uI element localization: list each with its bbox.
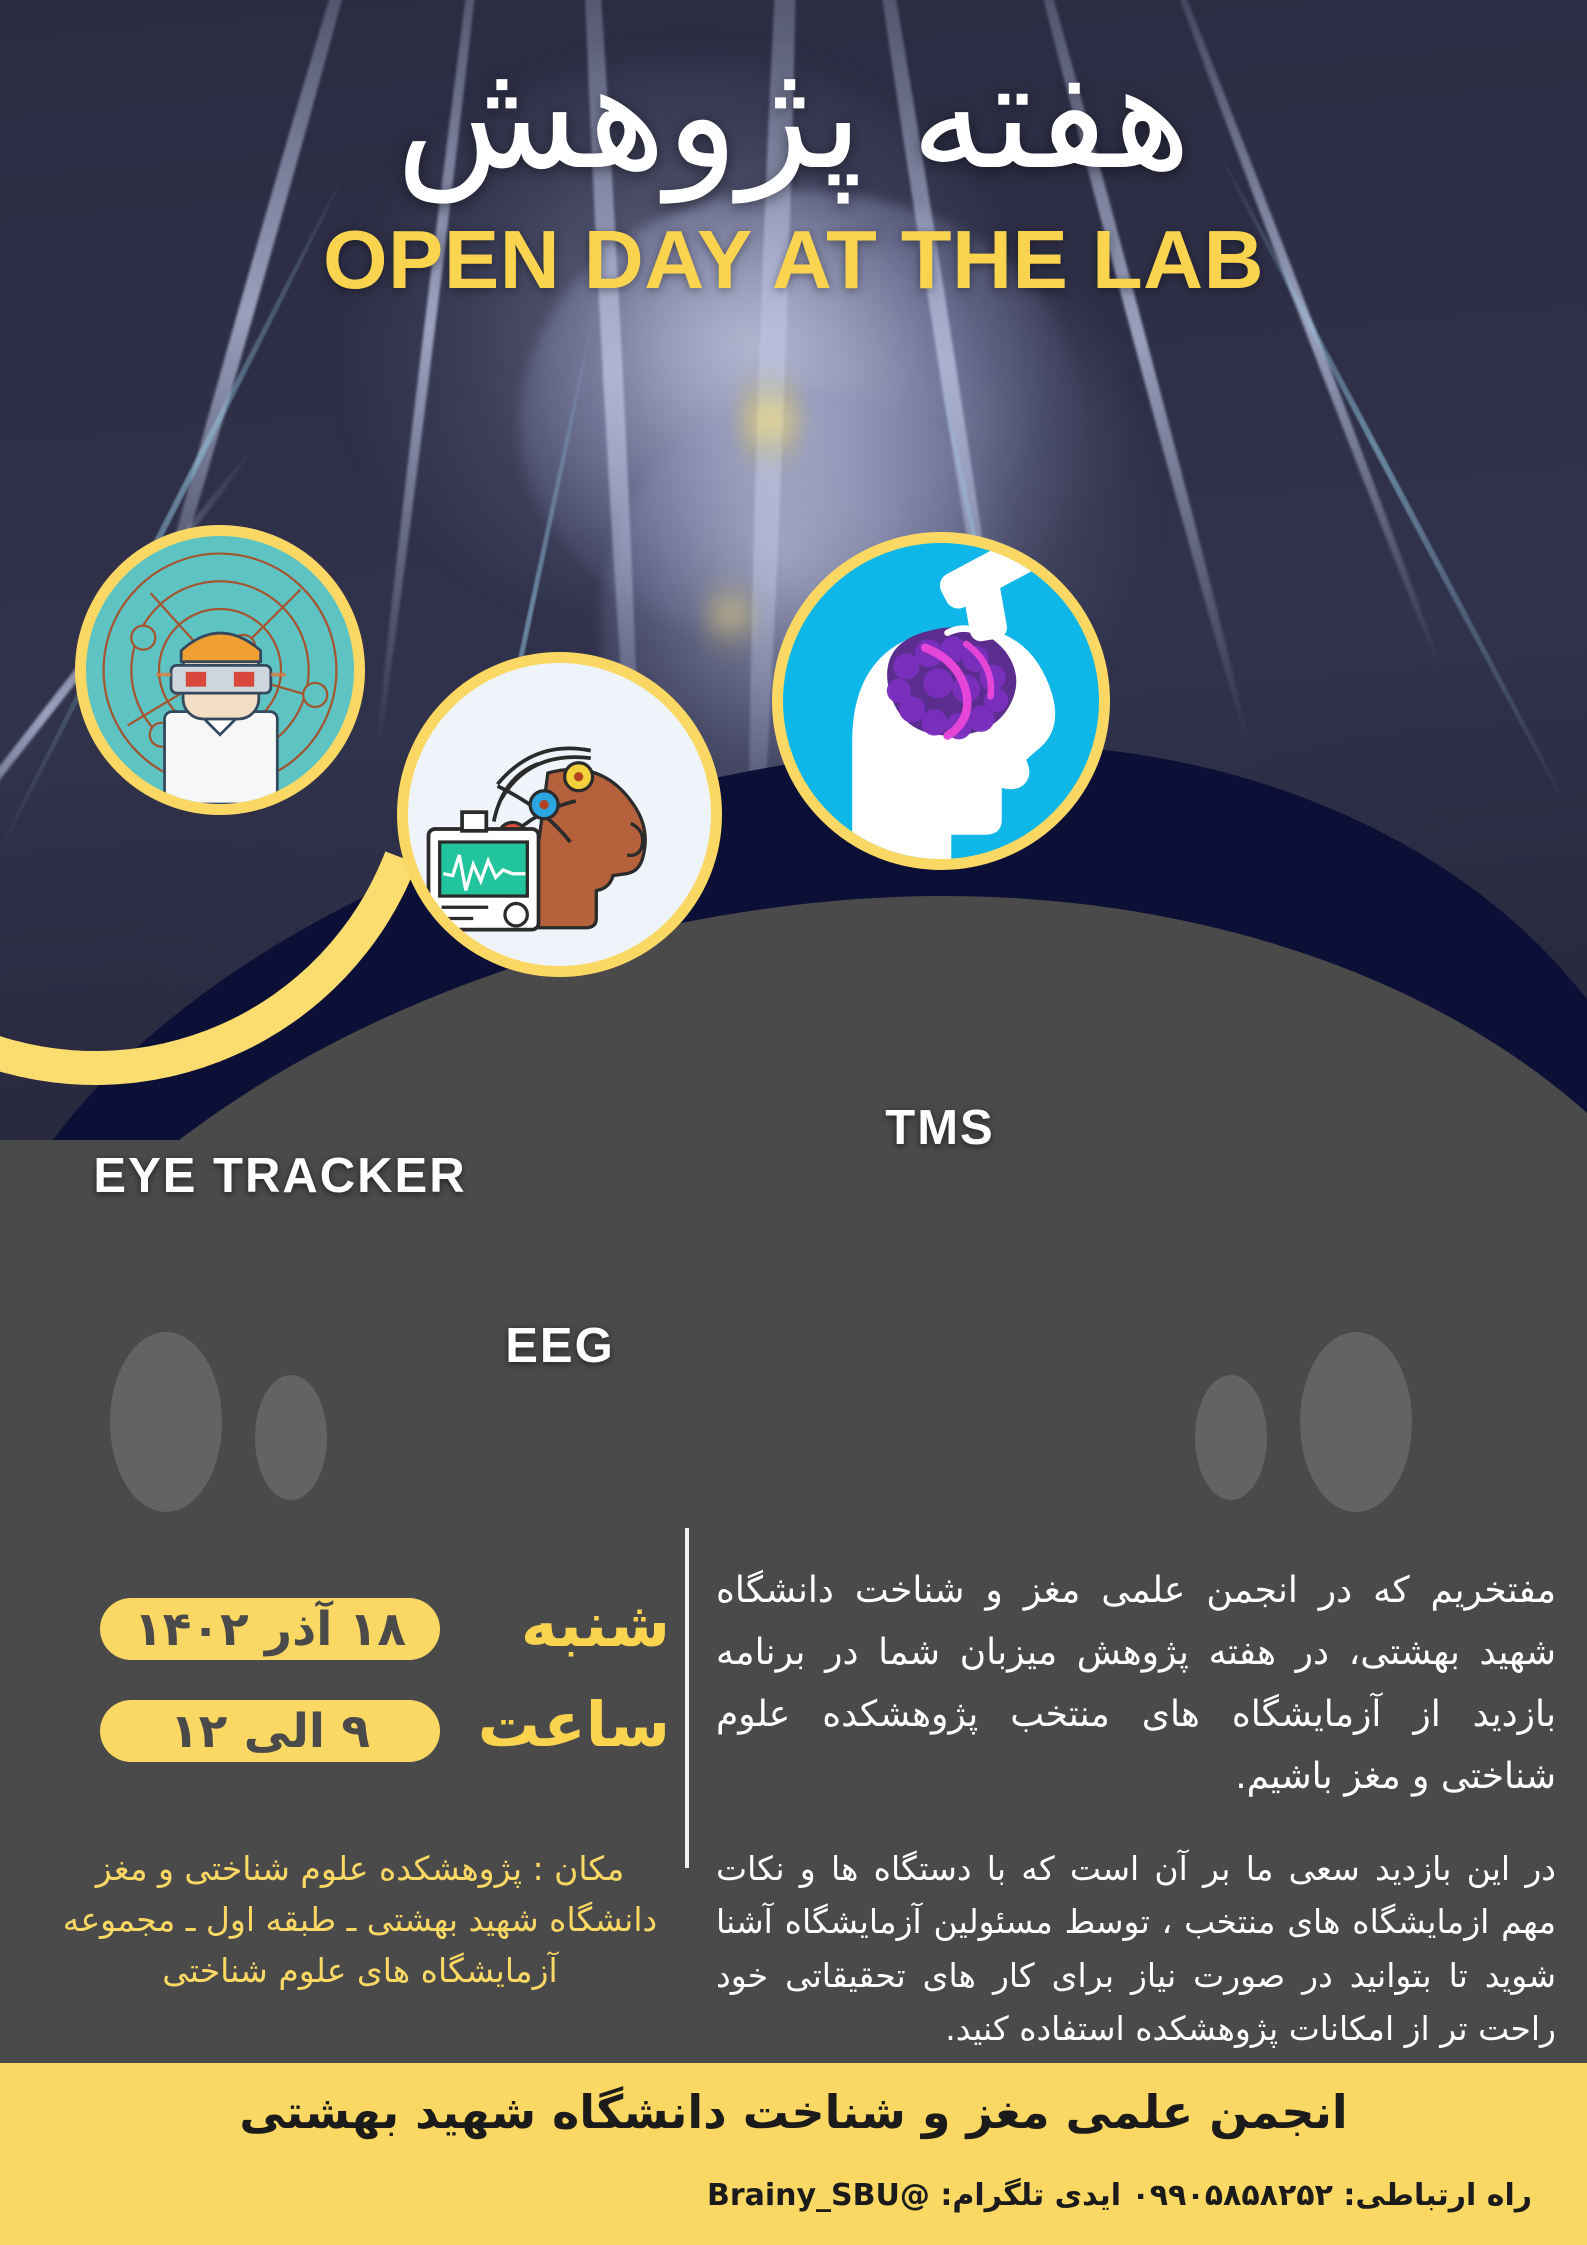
- decorative-ellipse: [1300, 1332, 1412, 1512]
- poster-root: هفته پژوهش OPEN DAY AT THE LAB: [0, 0, 1587, 2245]
- decorative-ellipse: [255, 1375, 327, 1500]
- badge-label-eye-tracker: EYE TRACKER: [0, 1148, 560, 1204]
- tms-coil-icon: [783, 543, 1099, 859]
- badge-label-tms: TMS: [770, 1100, 1110, 1156]
- contact-info: راه ارتباطی: ۰۹۹۰۵۸۵۸۲۵۲ ایدی تلگرام: @B…: [707, 2178, 1532, 2213]
- description-paragraph-1: مفتخریم که در انجمن علمی مغز و شناخت دان…: [716, 1560, 1556, 1808]
- time-value-pill: ۹ الی ۱۲: [100, 1700, 440, 1762]
- contact-band: راه ارتباطی: ۰۹۹۰۵۸۵۸۲۵۲ ایدی تلگرام: @B…: [0, 2160, 1587, 2245]
- badge-label-eeg: EEG: [400, 1318, 720, 1374]
- decorative-ellipse: [110, 1332, 222, 1512]
- description-paragraph-2: در این بازدید سعی ما بر آن است که با دست…: [716, 1842, 1556, 2056]
- decorative-ellipse: [1195, 1375, 1267, 1500]
- eye-tracker-icon: [86, 536, 354, 804]
- vertical-divider: [685, 1528, 689, 1868]
- page-title-english: OPEN DAY AT THE LAB: [0, 212, 1587, 308]
- page-title-persian: هفته پژوهش: [0, 20, 1587, 212]
- badge-eeg[interactable]: [397, 652, 722, 977]
- eeg-headset-icon: [408, 663, 711, 966]
- badge-eye-tracker[interactable]: [75, 525, 365, 815]
- spark-highlight: [700, 560, 760, 670]
- organization-name: انجمن علمی مغز و شناخت دانشگاه شهید بهشت…: [239, 2085, 1347, 2139]
- organization-band: انجمن علمی مغز و شناخت دانشگاه شهید بهشت…: [0, 2063, 1587, 2160]
- badge-tms[interactable]: [772, 532, 1110, 870]
- venue-text: مکان : پژوهشکده علوم شناختی و مغز دانشگا…: [50, 1843, 670, 1996]
- spark-highlight: [735, 350, 805, 490]
- day-value-pill: ۱۸ آذر ۱۴۰۲: [100, 1598, 440, 1660]
